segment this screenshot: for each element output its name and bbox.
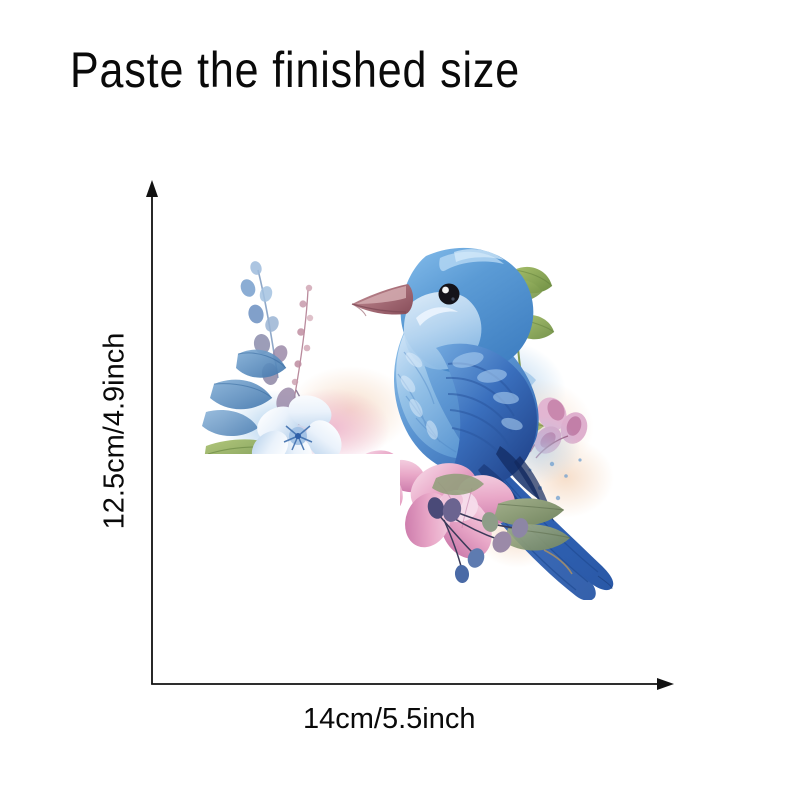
vertical-axis-arrowhead [146,180,158,197]
page-title: Paste the finished size [70,44,520,97]
bird-eye [439,284,460,305]
horizontal-axis-arrowhead [657,678,674,690]
product-artwork-bluebird [200,232,630,600]
vertical-dimension-label: 12.5cm/4.9inch [99,333,132,530]
bird-beak [352,284,413,316]
horizontal-dimension-label: 14cm/5.5inch [303,703,476,736]
infographic-page: Paste the finished size 12.5cm/4.9inch 1… [0,0,800,800]
